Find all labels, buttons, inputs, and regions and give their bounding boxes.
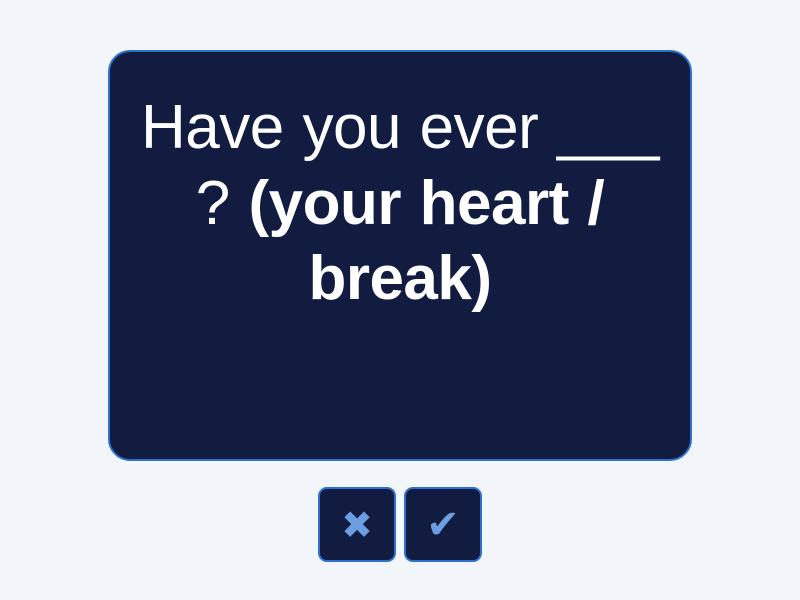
accept-button[interactable]: ✔: [404, 487, 482, 562]
check-icon: ✔: [426, 505, 460, 545]
answer-button-bar: ✖ ✔: [0, 487, 800, 562]
question-text: Have you ever ___ ? (your heart / break): [128, 90, 672, 317]
question-card: Have you ever ___ ? (your heart / break): [108, 50, 692, 461]
reject-button[interactable]: ✖: [318, 487, 396, 562]
cross-icon: ✖: [341, 506, 373, 544]
question-card-body: Have you ever ___ ? (your heart / break): [110, 52, 690, 317]
question-answer-hint: (your heart / break): [248, 169, 604, 314]
flashcard-screen: Have you ever ___ ? (your heart / break)…: [0, 0, 800, 600]
